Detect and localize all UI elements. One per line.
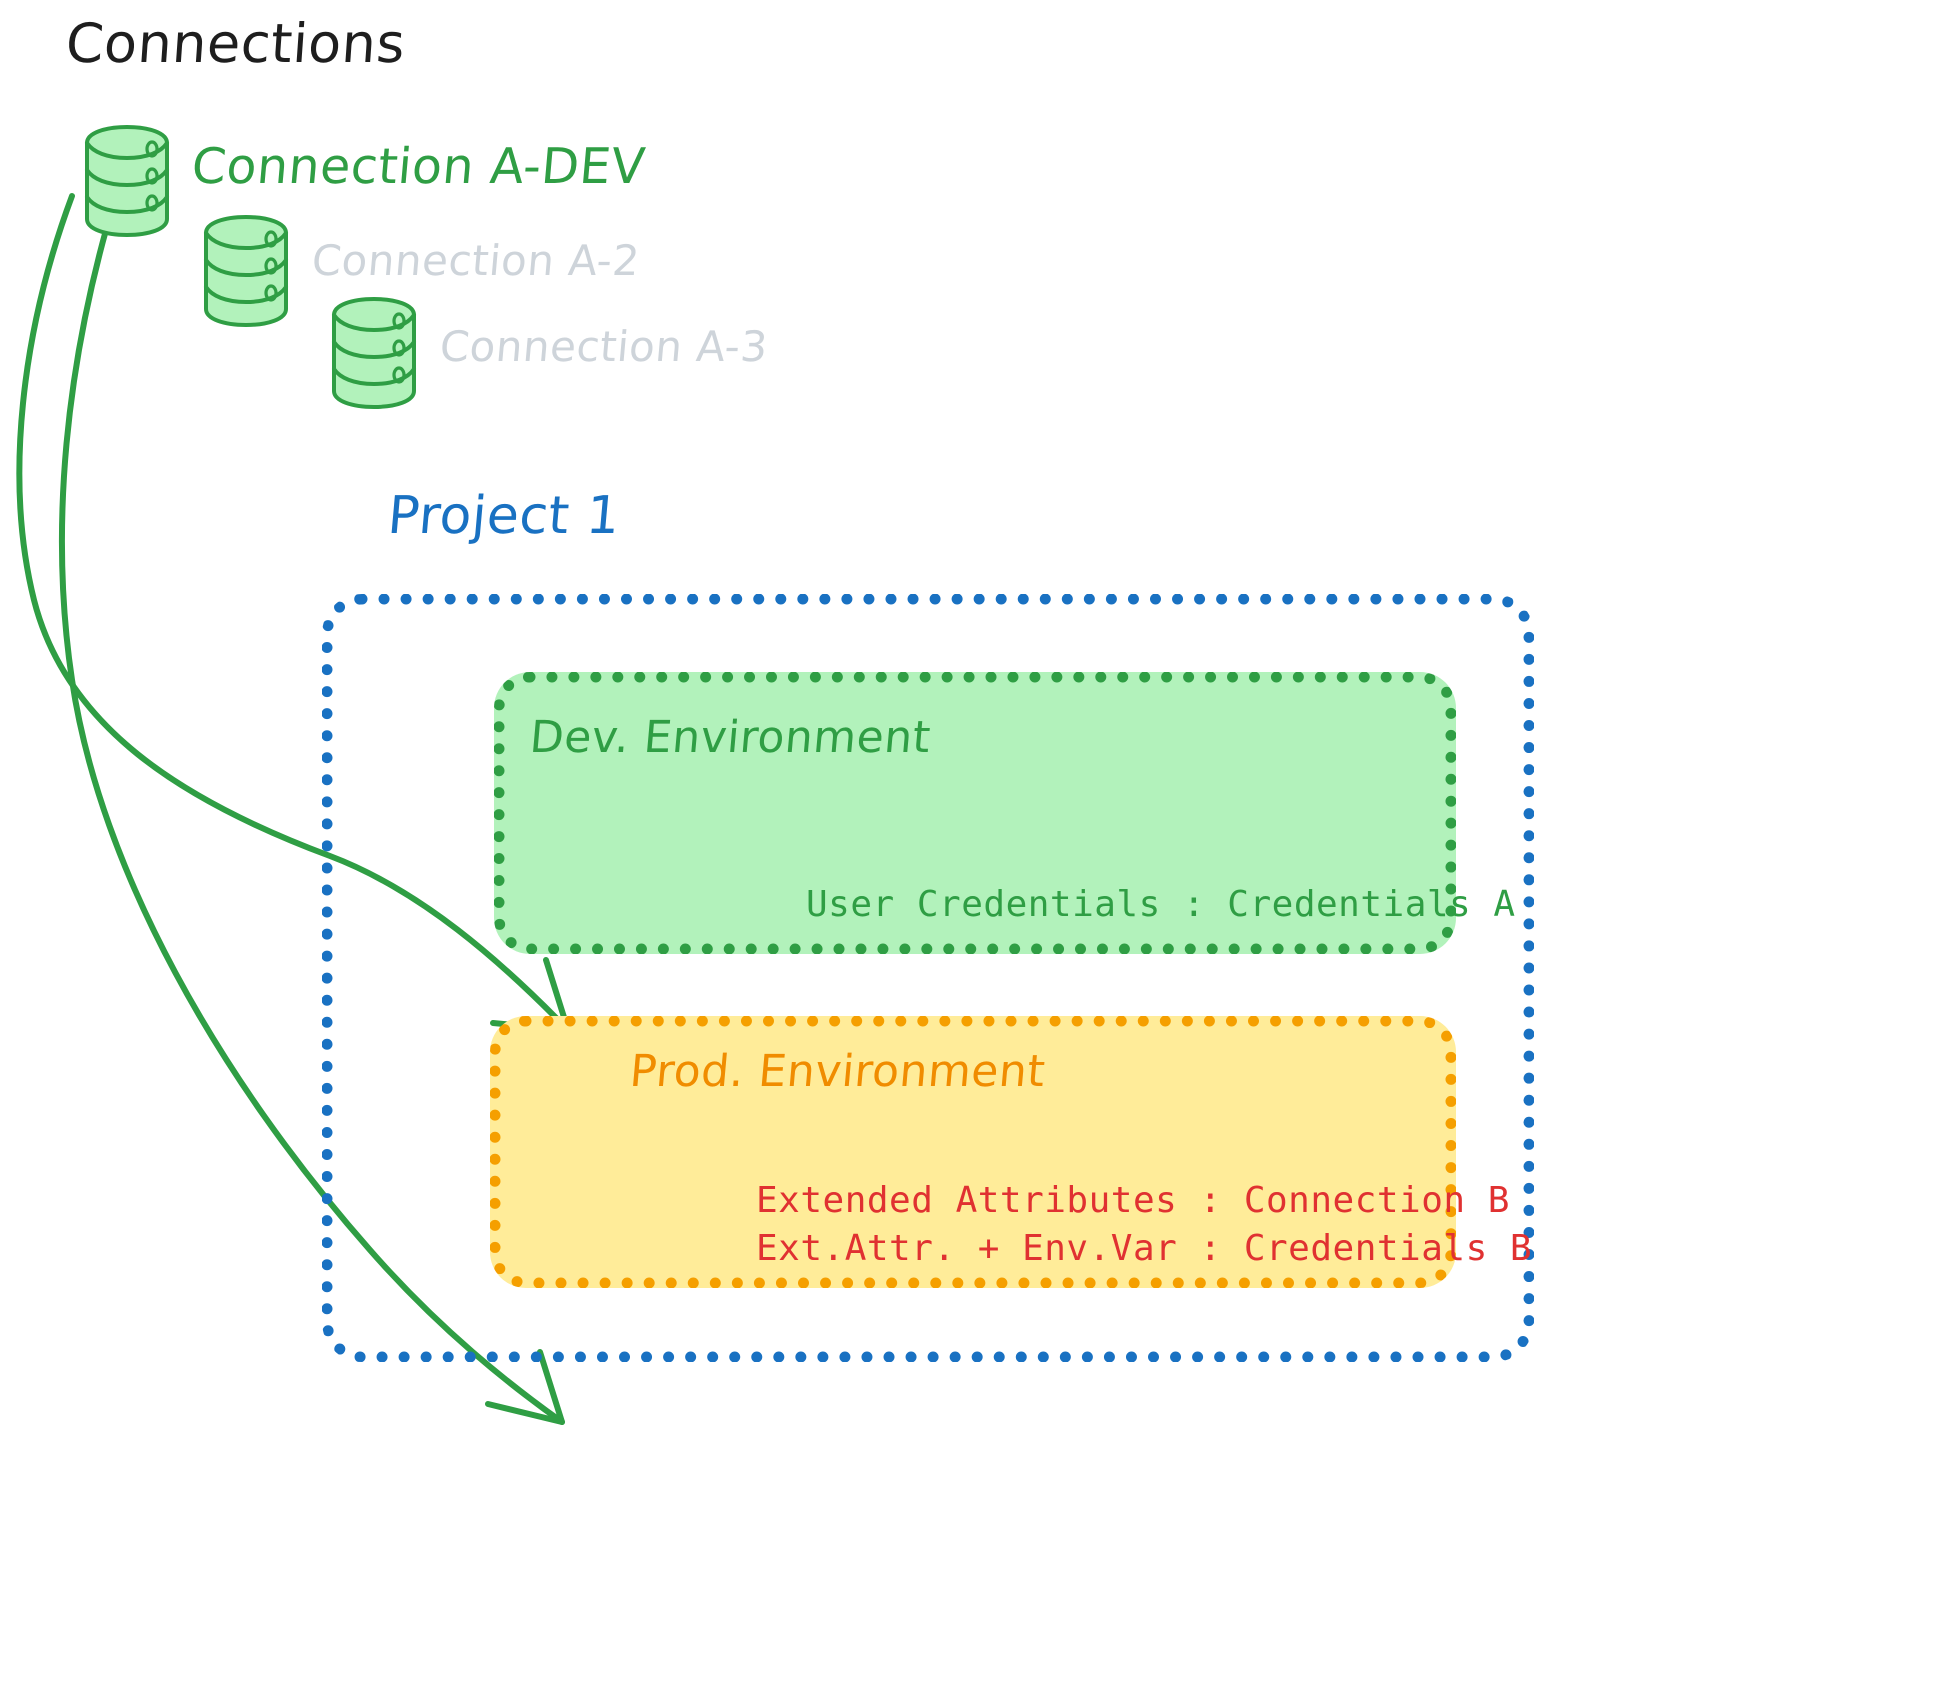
project-1-label[interactable]: Project 1	[385, 486, 622, 546]
connections-heading: Connections	[64, 12, 408, 75]
prod-environment-title: Prod. Environment	[628, 1046, 1048, 1097]
connection-a-dev-label[interactable]: Connection A-DEV	[190, 138, 648, 195]
prod-extended-attributes-row: Extended Attributes : Connection B	[756, 1180, 1510, 1221]
diagram-canvas: Connections Connection A-DEV Connection …	[0, 0, 1938, 1691]
connection-a-2-label[interactable]: Connection A-2	[310, 236, 642, 285]
labels-layer: Connections Connection A-DEV Connection …	[0, 0, 1938, 1691]
dev-user-credentials-row: User Credentials : Credentials A	[806, 884, 1516, 925]
prod-ext-attr-env-var-row: Ext.Attr. + Env.Var : Credentials B	[756, 1228, 1532, 1269]
connection-a-3-label[interactable]: Connection A-3	[438, 322, 770, 371]
dev-environment-title: Dev. Environment	[528, 712, 933, 763]
